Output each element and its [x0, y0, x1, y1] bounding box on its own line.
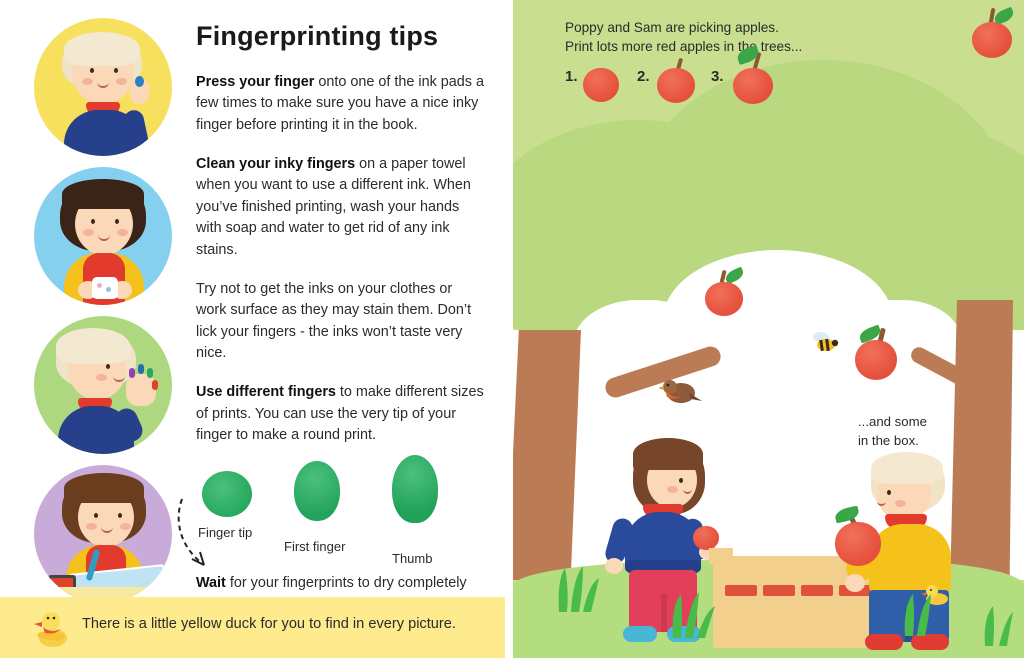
side-note-line-1: ...and some: [858, 412, 927, 431]
apple-step-3-body: [733, 68, 773, 104]
fingerprint-label-thumb: Thumb: [392, 551, 432, 566]
page-title: Fingerprinting tips: [196, 22, 486, 52]
crate-apple-slot-2: [763, 585, 795, 596]
apple-step-2-body: [657, 68, 695, 103]
illustration-boy-showing-coloured-fingers: [34, 316, 172, 454]
fingerprint-first-finger: [294, 461, 340, 521]
grass-tuft-center: [661, 586, 723, 638]
apple-step-1-body: [583, 68, 619, 102]
crate-corner-post: [709, 548, 733, 564]
tip-lead-fingers: Use different fingers: [196, 384, 336, 400]
side-note-line-2: in the box.: [858, 431, 927, 450]
bee-icon: [811, 330, 841, 356]
intro-line-2: Print lots more red apples in the trees.…: [565, 37, 802, 56]
footer-band: There is a little yellow duck for you to…: [0, 597, 505, 658]
tip-paragraph-press: Press your finger onto one of the ink pa…: [196, 72, 486, 137]
grass-tuft-far-right: [975, 600, 1021, 646]
crate-apple-slot-3: [801, 585, 833, 596]
tip-paragraph-stains: Try not to get the inks on your clothes …: [196, 279, 486, 365]
right-page-intro: Poppy and Sam are picking apples. Print …: [565, 18, 802, 57]
fingerprint-tip: [202, 471, 252, 517]
tip-lead-press: Press your finger: [196, 74, 314, 90]
fingerprint-samples: Finger tip First finger Thumb: [196, 453, 486, 549]
duck-icon: [33, 607, 73, 649]
fingerprint-label-first: First finger: [284, 539, 345, 554]
robin-bird-icon: [659, 375, 703, 409]
book-spread: Fingerprinting tips Press your finger on…: [0, 0, 1024, 658]
footer-text: There is a little yellow duck for you to…: [82, 616, 456, 632]
crate-apple-slot-1: [725, 585, 757, 596]
grass-tuft-right: [895, 586, 953, 636]
tip-paragraph-clean: Clean your inky fingers on a paper towel…: [196, 154, 486, 262]
tip-lead-clean: Clean your inky fingers: [196, 156, 355, 172]
apple-steps: 1. 2. 3.: [565, 62, 795, 112]
apple-step-3-number: 3.: [711, 68, 724, 85]
tip-body-stains: Try not to get the inks on your clothes …: [196, 281, 471, 362]
apple-step-1-number: 1.: [565, 68, 578, 85]
fingerprint-label-tip: Finger tip: [198, 525, 252, 540]
illustration-boy-with-inky-finger: [34, 18, 172, 156]
left-page: Fingerprinting tips Press your finger on…: [0, 0, 505, 658]
intro-line-1: Poppy and Sam are picking apples.: [565, 18, 802, 37]
illustration-girl-drawing-in-book: [34, 465, 172, 603]
illustration-girl-cleaning-fingers: [34, 167, 172, 305]
right-page: Poppy and Sam are picking apples. Print …: [513, 0, 1024, 658]
apple-step-2-number: 2.: [637, 68, 650, 85]
tip-paragraph-fingers: Use different fingers to make different …: [196, 382, 486, 447]
tree-trunk-left: [513, 330, 581, 580]
grass-tuft-left: [549, 556, 609, 612]
illustration-column: [34, 18, 174, 614]
side-note: ...and some in the box.: [858, 412, 927, 450]
fingerprint-thumb: [392, 455, 438, 523]
tips-text-column: Fingerprinting tips Press your finger on…: [196, 22, 486, 655]
